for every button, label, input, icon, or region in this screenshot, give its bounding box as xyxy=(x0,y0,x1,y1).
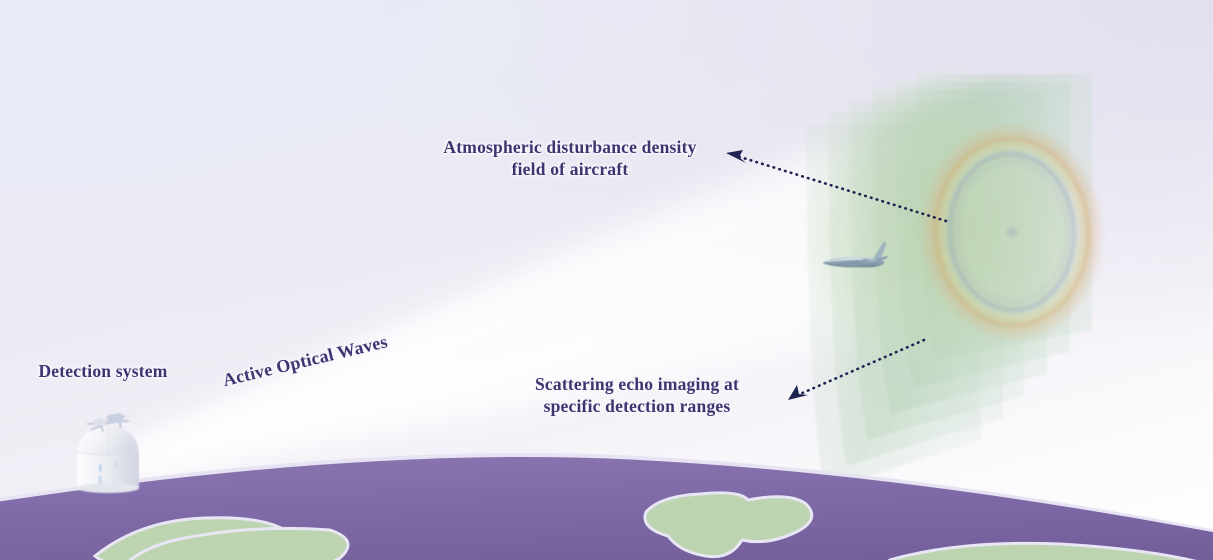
diagram-canvas: Atmospheric disturbance density field of… xyxy=(0,0,1213,560)
callout-arrow-lower xyxy=(788,340,924,400)
callout-arrow-upper xyxy=(726,150,946,221)
callout-arrows xyxy=(0,0,1213,560)
